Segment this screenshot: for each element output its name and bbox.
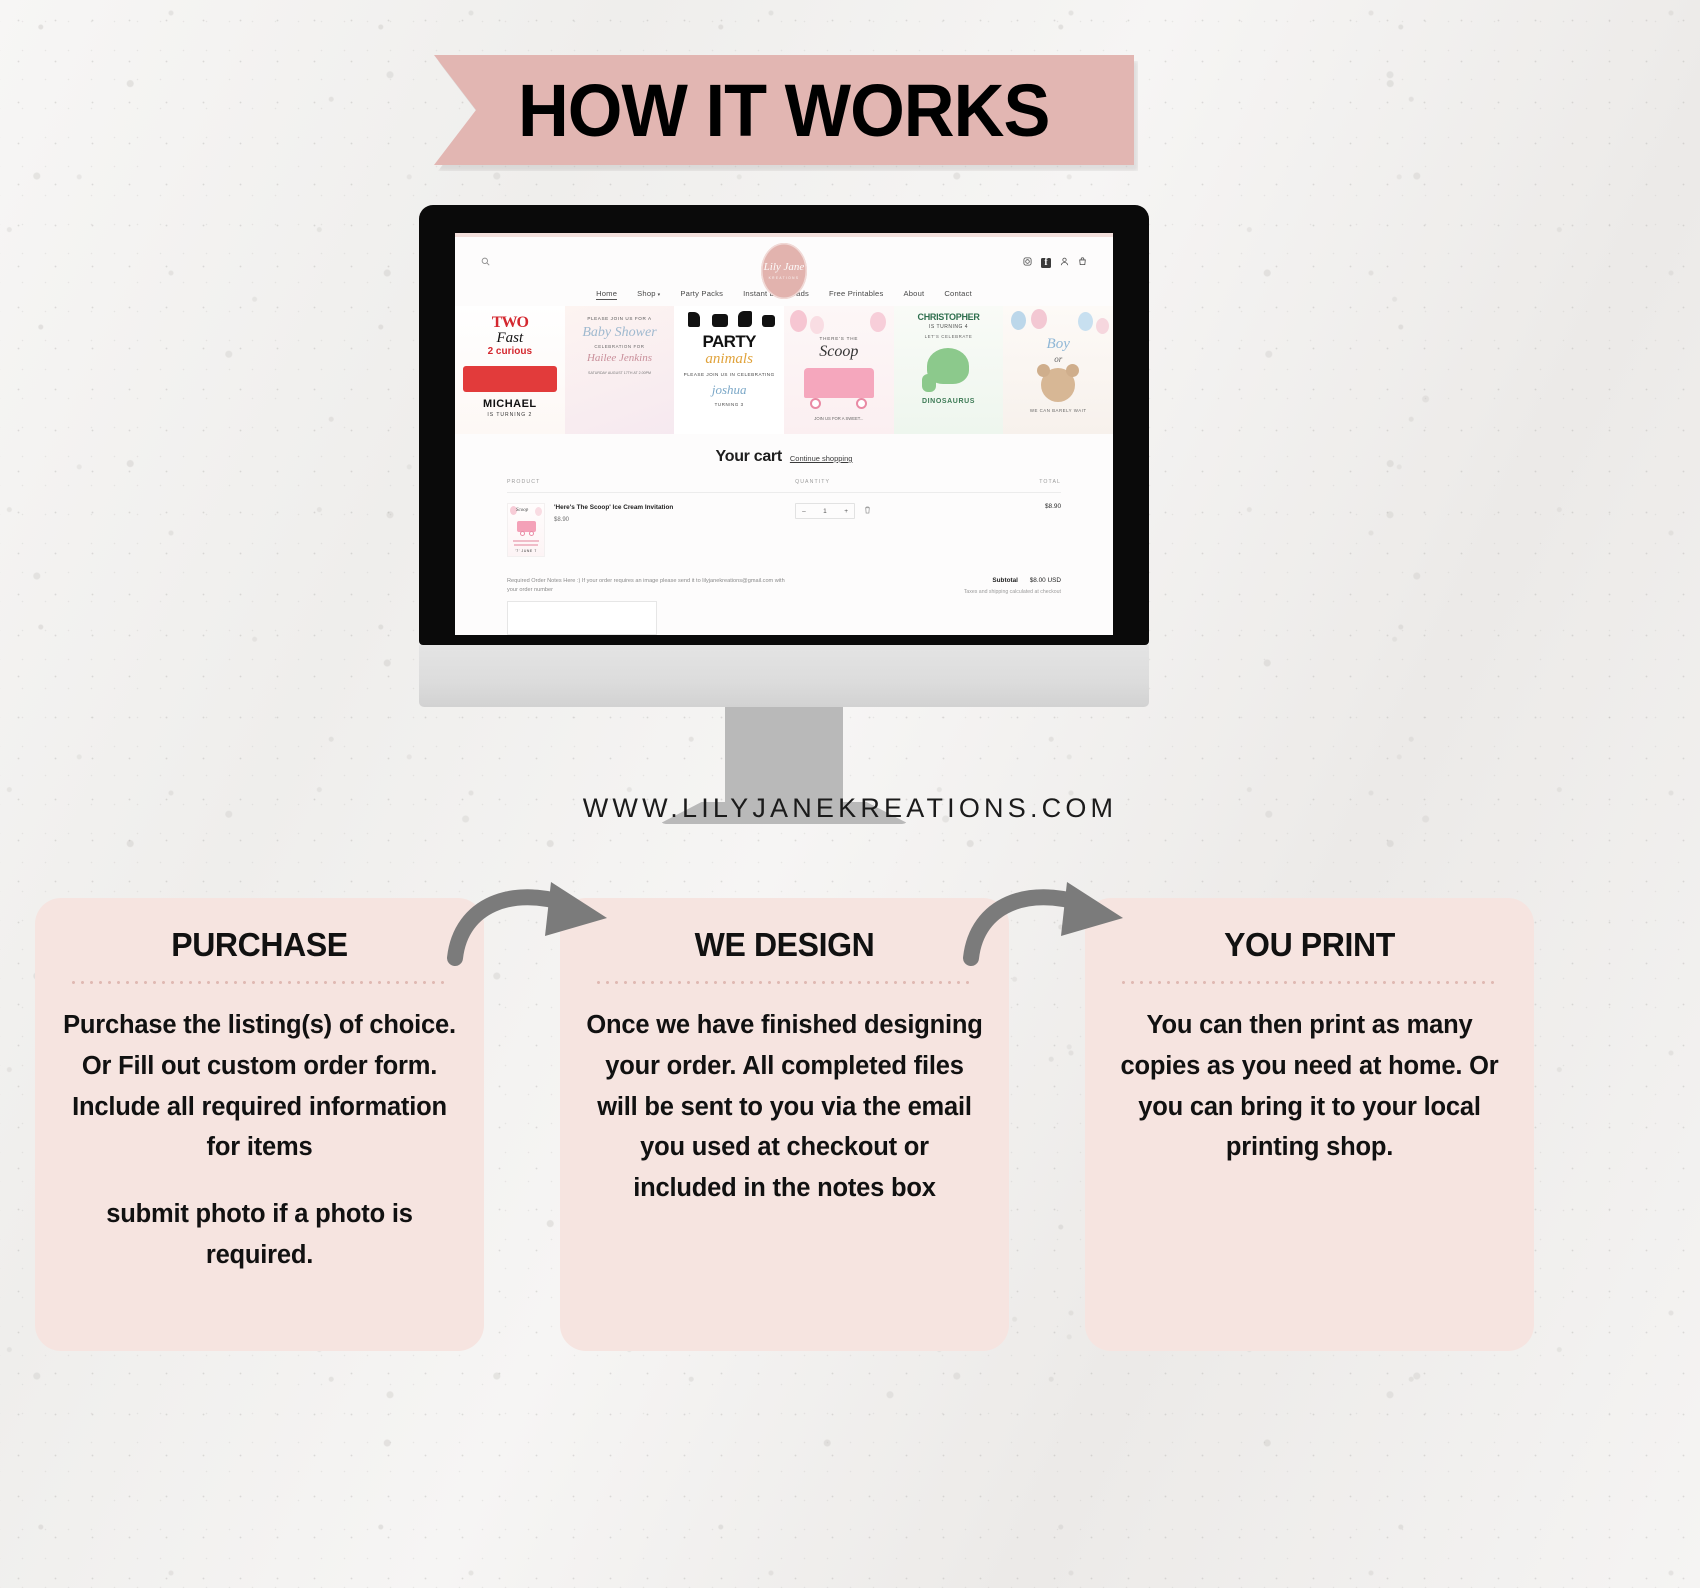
cart-column-headers: PRODUCT QUANTITY TOTAL <box>507 479 1061 493</box>
website-preview: Lily Jane KREATIONS f <box>455 233 1113 635</box>
card-title: WE DESIGN <box>592 926 977 964</box>
logo-sub-text: KREATIONS <box>769 276 800 280</box>
page-title: HOW IT WORKS <box>518 68 1049 153</box>
monitor-stand <box>725 707 843 802</box>
cart-section: Your cart Continue shopping PRODUCT QUAN… <box>455 434 1113 635</box>
card-title: PURCHASE <box>67 926 452 964</box>
cart-title: Your cart <box>716 448 782 466</box>
nav-item-home[interactable]: Home <box>596 289 617 300</box>
product-cell: Scoop '7' JUNE 7 'Here's The Scoop' <box>507 503 795 557</box>
invitation-thumb[interactable]: PARTY animals PLEASE JOIN US IN CELEBRAT… <box>674 306 784 434</box>
column-header-quantity: QUANTITY <box>795 479 939 485</box>
facebook-icon[interactable]: f <box>1041 258 1051 268</box>
inv-line: Hailee Jenkins <box>565 352 675 364</box>
inv-line: JOIN US FOR A SWEET... <box>784 416 894 421</box>
card-divider <box>69 981 450 984</box>
cart-table: PRODUCT QUANTITY TOTAL Scoop <box>507 479 1061 557</box>
card-divider <box>1119 981 1500 984</box>
search-icon[interactable] <box>481 257 490 269</box>
product-price: $8.90 <box>554 517 673 523</box>
subtotal-label: Subtotal <box>992 577 1018 584</box>
monitor-mockup: Lily Jane KREATIONS f <box>419 205 1149 824</box>
order-notes-label: Required Order Notes Here :) If your ord… <box>507 577 795 595</box>
inv-line: LET'S CELEBRATE <box>894 334 1004 339</box>
inv-line: 2 curious <box>455 346 565 357</box>
nav-item-about[interactable]: About <box>903 289 924 300</box>
inv-line: animals <box>674 351 784 368</box>
how-it-works-banner: HOW IT WORKS <box>434 55 1134 165</box>
card-title: YOU PRINT <box>1117 926 1502 964</box>
inv-line: SATURDAY AUGUST 17TH AT 2.00PM <box>565 370 675 377</box>
inv-line: TURNING 3 <box>674 402 784 407</box>
nav-label: About <box>903 289 924 298</box>
logo-script-text: Lily Jane <box>764 262 805 273</box>
invitation-thumb[interactable]: PLEASE JOIN US FOR A Baby Shower CELEBRA… <box>565 306 675 434</box>
invitation-thumb[interactable]: Boy or WE CAN BARELY WAIT <box>1003 306 1113 434</box>
nav-item-contact[interactable]: Contact <box>944 289 972 300</box>
column-header-product: PRODUCT <box>507 479 795 485</box>
subtotal-value: $8.00 USD <box>1030 577 1061 584</box>
account-icon[interactable] <box>1060 257 1069 269</box>
trash-icon[interactable] <box>864 506 871 516</box>
site-logo[interactable]: Lily Jane KREATIONS <box>761 243 807 299</box>
nav-item-shop[interactable]: Shop▾ <box>637 289 660 300</box>
column-header-total: TOTAL <box>939 479 1061 485</box>
instagram-icon[interactable] <box>1023 257 1032 269</box>
arrow-purchase-to-design <box>447 880 632 975</box>
continue-shopping-link[interactable]: Continue shopping <box>790 454 853 463</box>
inv-line: PARTY <box>674 332 784 352</box>
inv-line: PLEASE JOIN US IN CELEBRATING <box>674 372 784 377</box>
monitor-screen: Lily Jane KREATIONS f <box>455 233 1113 635</box>
nav-label: Party Packs <box>680 289 723 298</box>
decrement-button[interactable]: – <box>802 508 806 515</box>
banner-ribbon: HOW IT WORKS <box>434 55 1134 165</box>
increment-button[interactable]: + <box>844 508 848 515</box>
nav-label: Home <box>596 289 617 298</box>
inv-line: CHRISTOPHER <box>894 312 1004 322</box>
card-paragraph: Once we have finished designing your ord… <box>586 1005 983 1209</box>
card-divider <box>594 981 975 984</box>
inv-line: WE CAN BARELY WAIT <box>1003 408 1113 413</box>
product-name[interactable]: 'Here's The Scoop' Ice Cream Invitation <box>554 503 673 512</box>
quantity-value: 1 <box>823 508 827 515</box>
inv-line: CELEBRATION FOR <box>565 344 675 349</box>
inv-line: MICHAEL <box>455 398 565 410</box>
website-url: WWW.LILYJANEKREATIONS.COM <box>0 793 1700 824</box>
inv-line: IS TURNING 4 <box>894 324 1004 330</box>
cart-header: Your cart Continue shopping <box>455 448 1113 466</box>
nav-label: Contact <box>944 289 972 298</box>
card-paragraph: Purchase the listing(s) of choice. Or Fi… <box>61 1005 458 1168</box>
inv-line: joshua <box>674 382 784 398</box>
product-thumbnail[interactable]: Scoop '7' JUNE 7 <box>507 503 545 557</box>
tax-note: Taxes and shipping calculated at checkou… <box>795 589 1061 595</box>
quantity-stepper[interactable]: – 1 + <box>795 503 855 519</box>
nav-label: Shop <box>637 289 656 298</box>
nav-item-free-printables[interactable]: Free Printables <box>829 289 884 300</box>
monitor-bezel: Lily Jane KREATIONS f <box>419 205 1149 645</box>
chevron-down-icon: ▾ <box>658 292 661 298</box>
inv-line: Scoop <box>784 343 894 361</box>
inv-line: PLEASE JOIN US FOR A <box>565 316 675 321</box>
inv-line: Boy <box>1003 336 1113 353</box>
subtotal-row: Subtotal $8.00 USD <box>795 577 1061 584</box>
card-paragraph-secondary: submit photo if a photo is required. <box>61 1194 458 1276</box>
inv-line: or <box>1003 354 1113 364</box>
cart-footer: Required Order Notes Here :) If your ord… <box>507 577 1061 595</box>
nav-item-party-packs[interactable]: Party Packs <box>680 289 723 300</box>
totals-block: Subtotal $8.00 USD Taxes and shipping ca… <box>795 577 1061 595</box>
order-notes-textarea[interactable] <box>507 601 657 635</box>
inv-line: IS TURNING 2 <box>455 412 565 418</box>
card-paragraph: You can then print as many copies as you… <box>1111 1005 1508 1168</box>
monitor-chin <box>419 645 1149 707</box>
inv-line: DINOSAURUS <box>894 398 1004 405</box>
inv-line: Fast <box>455 330 565 347</box>
site-header: Lily Jane KREATIONS f <box>455 237 1113 289</box>
quantity-cell: – 1 + <box>795 503 939 557</box>
inv-line: THERE'S THE <box>784 336 894 341</box>
card-purchase: PURCHASE Purchase the listing(s) of choi… <box>35 898 484 1351</box>
header-icon-group: f <box>1023 257 1087 269</box>
card-you-print: YOU PRINT You can then print as many cop… <box>1085 898 1534 1351</box>
inv-line: Baby Shower <box>565 325 675 341</box>
nav-label: Free Printables <box>829 289 884 298</box>
invitation-thumb[interactable]: THERE'S THE Scoop JOIN US FOR A SWEET... <box>784 306 894 434</box>
arrow-design-to-print <box>963 880 1148 975</box>
line-total: $8.90 <box>939 503 1061 557</box>
invitation-thumb[interactable]: TWO Fast 2 curious MICHAEL IS TURNING 2 <box>455 306 565 434</box>
cart-line-item: Scoop '7' JUNE 7 'Here's The Scoop' <box>507 493 1061 557</box>
hero-invitation-strip: TWO Fast 2 curious MICHAEL IS TURNING 2 … <box>455 306 1113 434</box>
invitation-thumb[interactable]: CHRISTOPHER IS TURNING 4 LET'S CELEBRATE… <box>894 306 1004 434</box>
cart-icon[interactable] <box>1078 257 1087 269</box>
